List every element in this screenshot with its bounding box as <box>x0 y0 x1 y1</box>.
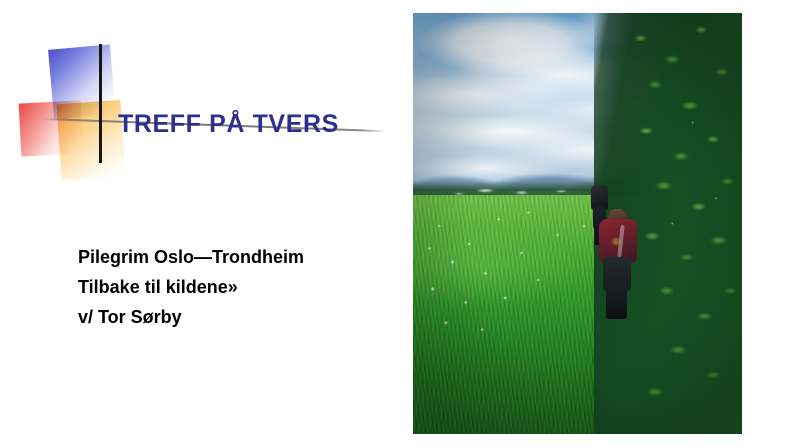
body-line-2: Tilbake til kildene» <box>78 272 398 302</box>
presentation-slide: TREFF PÅ TVERS Pilegrim Oslo—Trondheim T… <box>0 0 800 448</box>
slide-body-text: Pilegrim Oslo—Trondheim Tilbake til kild… <box>78 242 398 332</box>
body-line-1: Pilegrim Oslo—Trondheim <box>78 242 398 272</box>
logo-orange-square-icon <box>56 100 125 180</box>
logo-block: TREFF PÅ TVERS <box>0 30 400 170</box>
logo-vertical-rule <box>99 44 102 163</box>
logo-title: TREFF PÅ TVERS <box>118 110 339 139</box>
photo-vignette <box>413 13 742 434</box>
body-line-3: v/ Tor Sørby <box>78 302 398 332</box>
slide-photo <box>413 13 742 434</box>
